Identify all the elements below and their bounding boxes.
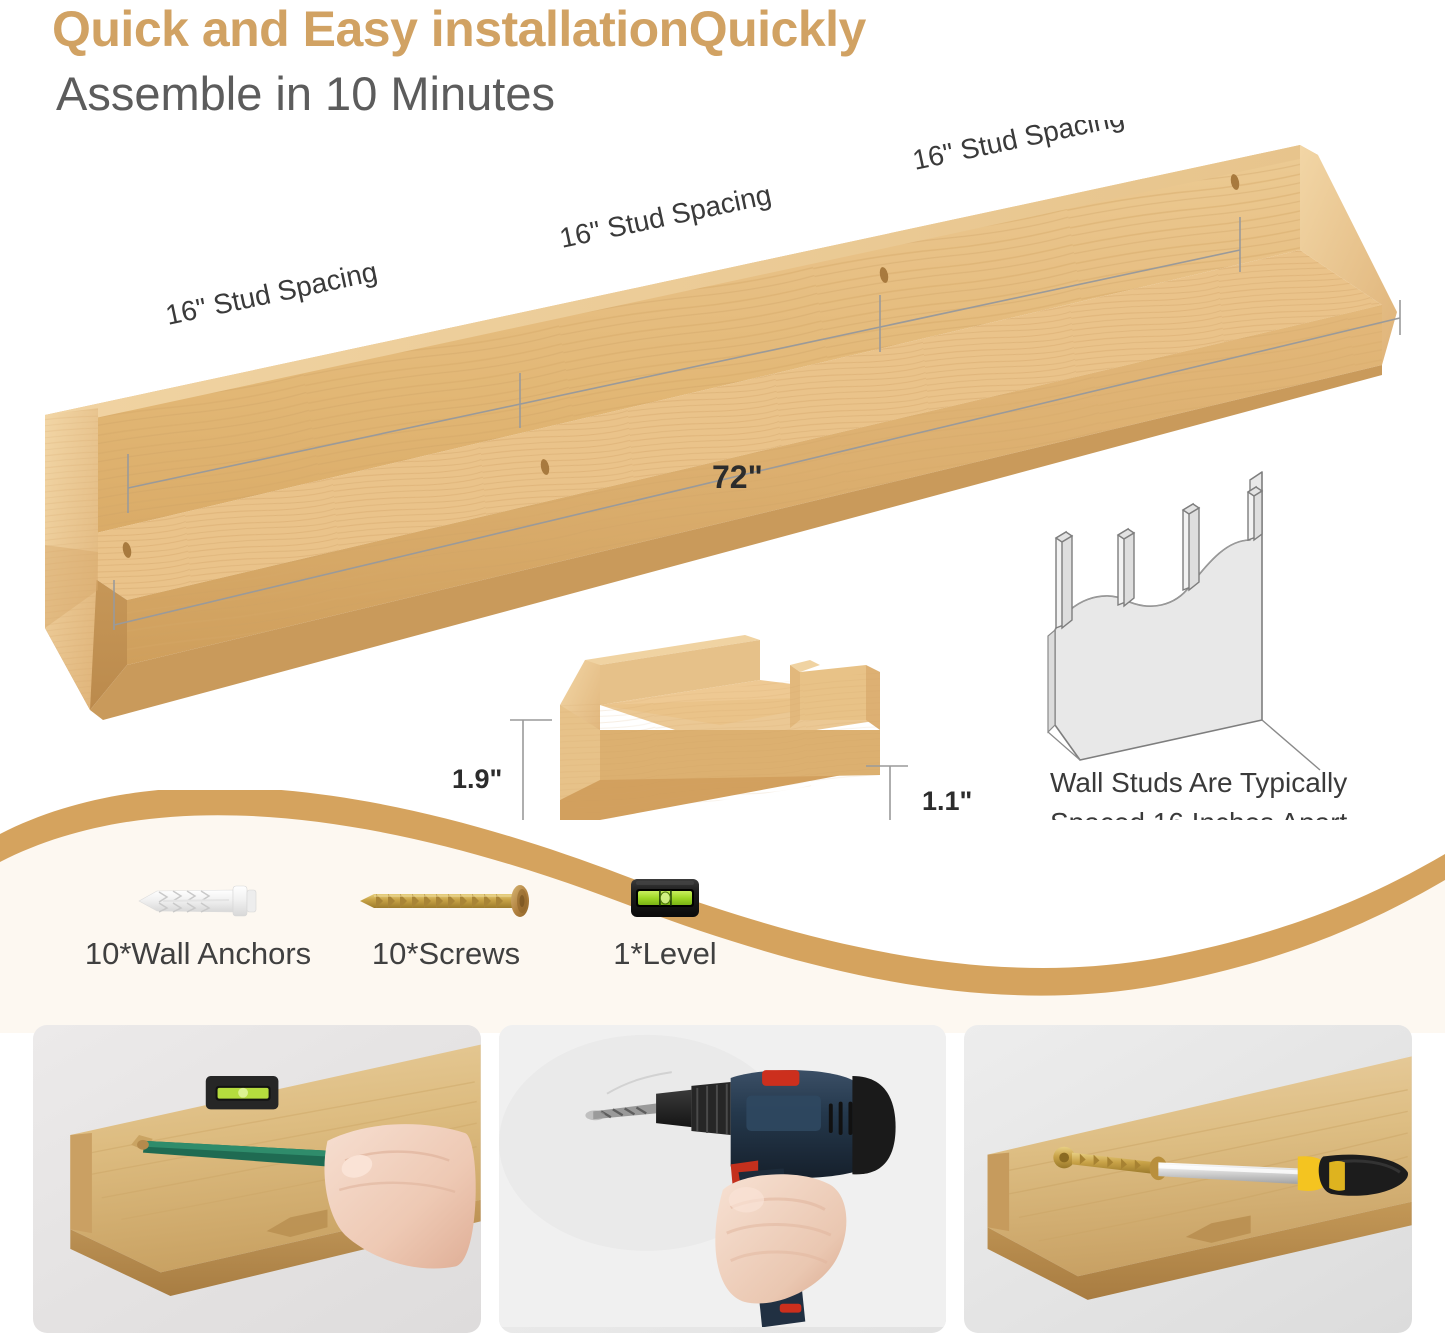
photo-drill-hole-in-wall bbox=[499, 1025, 947, 1333]
wall-anchor-icon bbox=[133, 884, 263, 918]
level-art bbox=[575, 870, 755, 930]
length-dimension-label: 72" bbox=[712, 459, 763, 495]
infographic-root: Quick and Easy installationQuickly Assem… bbox=[0, 0, 1445, 1333]
hardware-item-wall-anchors: 10*Wall Anchors bbox=[78, 870, 318, 972]
hardware-item-screws: 10*Screws bbox=[330, 870, 562, 972]
installation-photo-strip bbox=[0, 1025, 1445, 1333]
wall-stud-schematic bbox=[1048, 472, 1320, 770]
screw-art bbox=[330, 870, 562, 930]
page-title: Quick and Easy installationQuickly bbox=[52, 2, 866, 57]
stud-spacing-label-3: 16" Stud Spacing bbox=[910, 120, 1127, 176]
photo-drive-screw-with-screwdriver bbox=[964, 1025, 1412, 1333]
hardware-item-level: 1*Level bbox=[575, 870, 755, 972]
stud-spacing-label-1: 16" Stud Spacing bbox=[163, 256, 380, 331]
page-subtitle: Assemble in 10 Minutes bbox=[56, 68, 555, 120]
wall-anchor-label: 10*Wall Anchors bbox=[78, 936, 318, 972]
wall-anchor-art bbox=[78, 870, 318, 930]
screw-label: 10*Screws bbox=[330, 936, 562, 972]
level-label: 1*Level bbox=[575, 936, 755, 972]
stud-spacing-label-2: 16" Stud Spacing bbox=[557, 179, 774, 254]
hardware-list: 10*Wall Anchors bbox=[0, 870, 1445, 990]
screw-icon bbox=[346, 884, 546, 918]
photo-mark-with-pencil-and-level bbox=[33, 1025, 481, 1333]
bubble-level-icon bbox=[630, 874, 700, 922]
product-diagram: 16" Stud Spacing 16" Stud Spacing 16" St… bbox=[0, 120, 1445, 820]
